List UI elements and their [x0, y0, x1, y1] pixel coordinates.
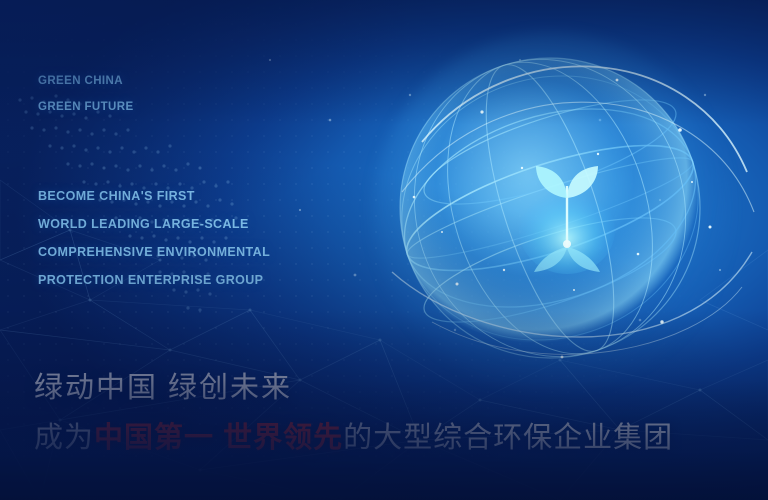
background-vignette — [0, 0, 768, 500]
hero-banner: GREEN CHINA GREEN FUTURE BECOME CHINA'S … — [0, 0, 768, 500]
